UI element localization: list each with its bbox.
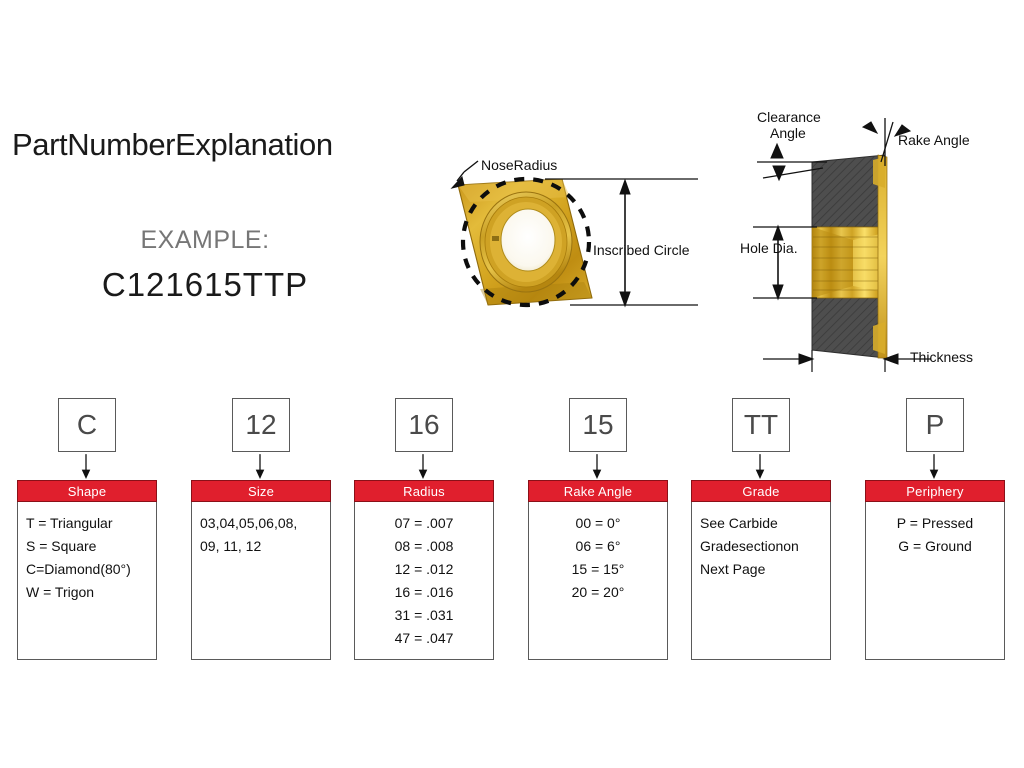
code-value: 12 bbox=[245, 409, 276, 441]
arrow-to-radius bbox=[417, 452, 429, 482]
code-box-shape: C bbox=[58, 398, 116, 452]
inscribed-circle-label: Inscribed Circle bbox=[593, 243, 689, 258]
column-header: Periphery bbox=[865, 480, 1005, 502]
column-line: Gradesectionon bbox=[700, 535, 822, 558]
column-line: 03,04,05,06,08, bbox=[200, 512, 322, 535]
column-line: T = Triangular bbox=[26, 512, 148, 535]
code-value: P bbox=[926, 409, 945, 441]
column-line: S = Square bbox=[26, 535, 148, 558]
column-line: 47 = .047 bbox=[363, 627, 485, 650]
column-body: P = PressedG = Ground bbox=[865, 502, 1005, 660]
arrow-to-periphery bbox=[928, 452, 940, 482]
code-value: 15 bbox=[582, 409, 613, 441]
arrow-to-rake-angle bbox=[591, 452, 603, 482]
thickness-label: Thickness bbox=[910, 350, 973, 365]
legend-column-grade: GradeSee CarbideGradesectiononNext Page bbox=[691, 480, 831, 660]
column-body: See CarbideGradesectiononNext Page bbox=[691, 502, 831, 660]
hole-diameter-label: Hole Dia. bbox=[740, 241, 798, 256]
arrow-to-shape bbox=[80, 452, 92, 482]
column-line: Next Page bbox=[700, 558, 822, 581]
code-box-size: 12 bbox=[232, 398, 290, 452]
column-header: Rake Angle bbox=[528, 480, 668, 502]
code-value: 16 bbox=[408, 409, 439, 441]
code-box-rake-angle: 15 bbox=[569, 398, 627, 452]
hole-diameter-dimension bbox=[753, 226, 817, 299]
column-line: 08 = .008 bbox=[363, 535, 485, 558]
column-line: See Carbide bbox=[700, 512, 822, 535]
code-value: C bbox=[77, 409, 97, 441]
column-body: T = TriangularS = SquareC=Diamond(80°)W … bbox=[17, 502, 157, 660]
column-line: 15 = 15° bbox=[537, 558, 659, 581]
column-line: P = Pressed bbox=[874, 512, 996, 535]
column-header: Radius bbox=[354, 480, 494, 502]
code-box-radius: 16 bbox=[395, 398, 453, 452]
code-box-periphery: P bbox=[906, 398, 964, 452]
page-title: PartNumberExplanation bbox=[12, 127, 412, 163]
column-header: Size bbox=[191, 480, 331, 502]
column-line: 00 = 0° bbox=[537, 512, 659, 535]
column-header: Grade bbox=[691, 480, 831, 502]
clearance-angle-label-line1: Clearance bbox=[757, 110, 821, 125]
insert-cross-section-figure bbox=[735, 100, 1024, 375]
legend-column-radius: Radius07 = .00708 = .00812 = .01216 = .0… bbox=[354, 480, 494, 660]
example-part-number: C121615TTP bbox=[10, 266, 400, 304]
column-line: 16 = .016 bbox=[363, 581, 485, 604]
column-body: 07 = .00708 = .00812 = .01216 = .01631 =… bbox=[354, 502, 494, 660]
column-line: 07 = .007 bbox=[363, 512, 485, 535]
column-line: G = Ground bbox=[874, 535, 996, 558]
code-box-grade: TT bbox=[732, 398, 790, 452]
legend-column-shape: ShapeT = TriangularS = SquareC=Diamond(8… bbox=[17, 480, 157, 660]
legend-column-rake-angle: Rake Angle00 = 0°06 = 6°15 = 15°20 = 20° bbox=[528, 480, 668, 660]
column-line: 09, 11, 12 bbox=[200, 535, 322, 558]
code-value: TT bbox=[744, 409, 778, 441]
column-line: 31 = .031 bbox=[363, 604, 485, 627]
section-body bbox=[812, 155, 887, 358]
column-line: 06 = 6° bbox=[537, 535, 659, 558]
rake-angle-label: Rake Angle bbox=[898, 133, 970, 148]
column-body: 00 = 0°06 = 6°15 = 15°20 = 20° bbox=[528, 502, 668, 660]
legend-column-size: Size03,04,05,06,08,09, 11, 12 bbox=[191, 480, 331, 660]
column-line: W = Trigon bbox=[26, 581, 148, 604]
arrow-to-size bbox=[254, 452, 266, 482]
column-body: 03,04,05,06,08,09, 11, 12 bbox=[191, 502, 331, 660]
nose-radius-label: NoseRadius bbox=[481, 158, 557, 173]
part-number-explanation-diagram: PartNumberExplanation EXAMPLE: C121615TT… bbox=[0, 0, 1024, 768]
legend-column-periphery: PeripheryP = PressedG = Ground bbox=[865, 480, 1005, 660]
column-header: Shape bbox=[17, 480, 157, 502]
column-line: 20 = 20° bbox=[537, 581, 659, 604]
example-label: EXAMPLE: bbox=[10, 226, 400, 255]
arrow-to-grade bbox=[754, 452, 766, 482]
clearance-angle-label-line2: Angle bbox=[770, 126, 806, 141]
column-line: 12 = .012 bbox=[363, 558, 485, 581]
column-line: C=Diamond(80°) bbox=[26, 558, 148, 581]
